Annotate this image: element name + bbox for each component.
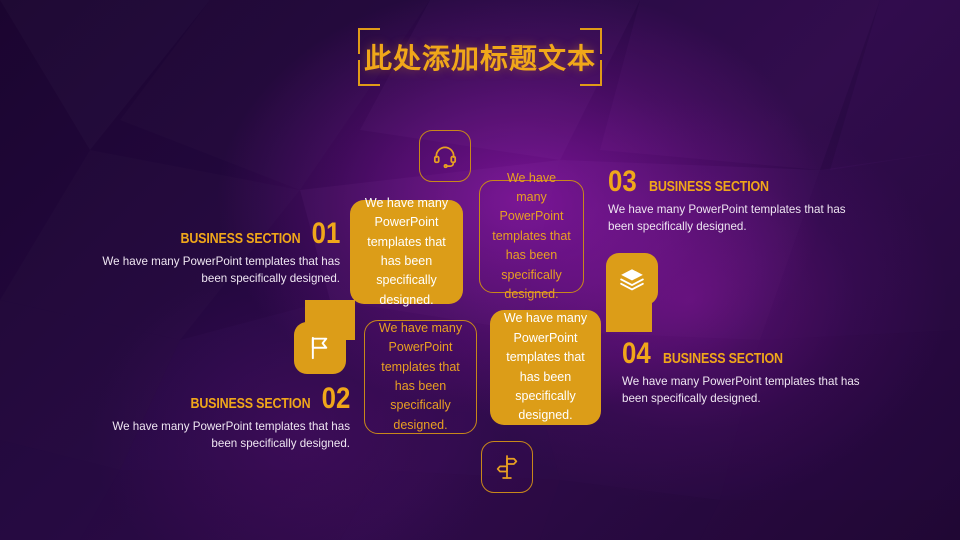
flag-icon — [307, 335, 333, 361]
badge-flag[interactable] — [294, 322, 346, 374]
badge-layers[interactable] — [606, 253, 658, 305]
section-02-heading: BUSINESS SECTION 02 — [110, 385, 350, 412]
layers-icon — [619, 266, 645, 292]
section-04-label: BUSINESS SECTION — [663, 351, 783, 367]
section-01-body: We have many PowerPoint templates that h… — [100, 253, 340, 287]
section-01-number: 01 — [311, 220, 340, 247]
section-02-label: BUSINESS SECTION — [191, 396, 311, 412]
badge-headset[interactable] — [419, 130, 471, 182]
signpost-icon — [494, 454, 520, 480]
headset-icon — [432, 143, 458, 169]
section-02: BUSINESS SECTION 02 We have many PowerPo… — [110, 385, 350, 452]
section-01-label: BUSINESS SECTION — [181, 231, 301, 247]
slide-title-block: 此处添加标题文本 — [358, 28, 602, 86]
section-01: BUSINESS SECTION 01 We have many PowerPo… — [100, 220, 340, 287]
section-04-heading: 04 BUSINESS SECTION — [622, 340, 872, 367]
section-02-body: We have many PowerPoint templates that h… — [110, 418, 350, 452]
section-03-number: 03 — [608, 168, 637, 195]
section-03-body: We have many PowerPoint templates that h… — [608, 201, 858, 235]
section-04: 04 BUSINESS SECTION We have many PowerPo… — [622, 340, 872, 407]
section-03-heading: 03 BUSINESS SECTION — [608, 168, 858, 195]
content-box-01[interactable]: We have many PowerPoint templates that h… — [350, 200, 463, 304]
section-01-heading: BUSINESS SECTION 01 — [100, 220, 340, 247]
content-box-04[interactable]: We have many PowerPoint templates that h… — [490, 310, 601, 425]
content-box-02[interactable]: We have many PowerPoint templates that h… — [364, 320, 477, 434]
section-03: 03 BUSINESS SECTION We have many PowerPo… — [608, 168, 858, 235]
page-title: 此处添加标题文本 — [358, 28, 602, 86]
section-04-number: 04 — [622, 340, 651, 367]
section-03-label: BUSINESS SECTION — [649, 179, 769, 195]
slide-canvas: 此处添加标题文本 — [0, 0, 960, 540]
badge-signpost[interactable] — [481, 441, 533, 493]
content-box-03[interactable]: We have many PowerPoint templates that h… — [479, 180, 584, 293]
section-04-body: We have many PowerPoint templates that h… — [622, 373, 872, 407]
section-02-number: 02 — [321, 385, 350, 412]
